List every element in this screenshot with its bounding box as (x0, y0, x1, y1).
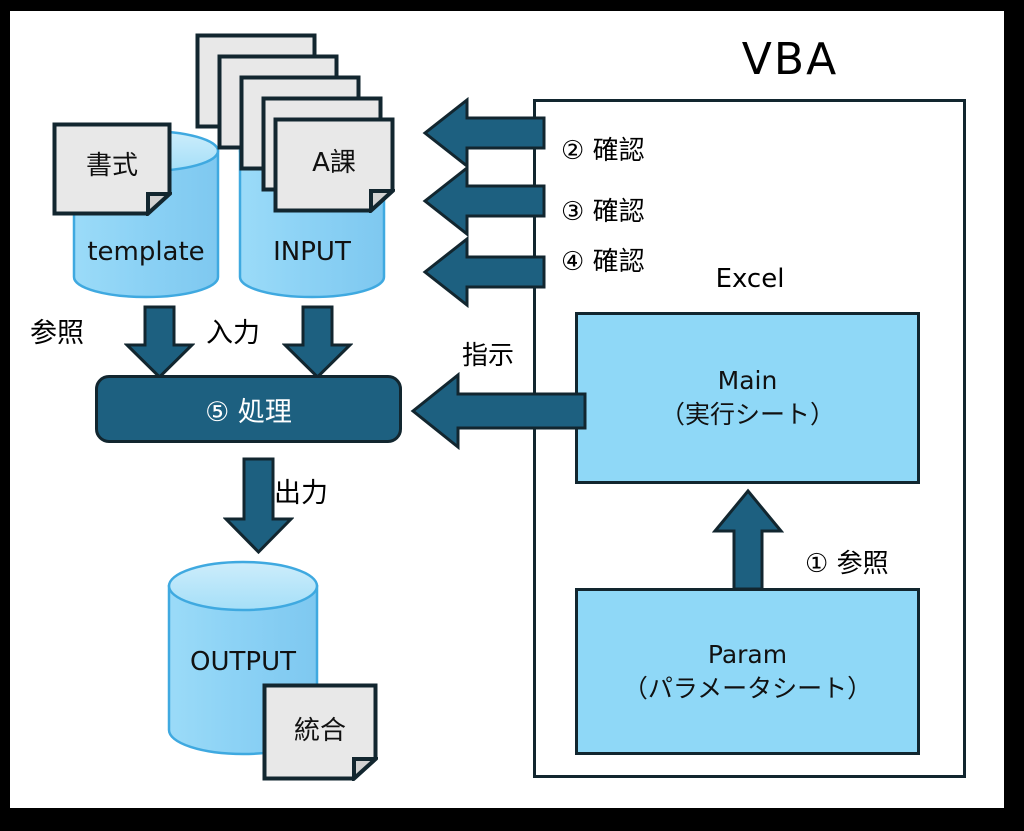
diagram-canvas: VBA Excel Main （実行シート） Param （パラメータシート） … (10, 11, 1004, 808)
reference-up-arrow-icon (712, 488, 784, 592)
confirm-arrow-3-icon (422, 236, 547, 308)
vba-title: VBA (670, 29, 910, 89)
reference-flow-label: 参照 (30, 311, 84, 350)
process-box-label: ⑤ 処理 (205, 390, 292, 429)
template-note-label: 書式 (52, 145, 172, 182)
confirm-arrow-1-label: ② 確認 (561, 130, 645, 167)
confirm-arrow-3-label: ④ 確認 (561, 241, 645, 278)
reference-arrow-label: ① 参照 (805, 543, 889, 580)
process-box[interactable]: ⑤ 処理 (95, 375, 402, 443)
confirm-arrow-2-icon (422, 165, 547, 237)
input-note-card[interactable]: A課 (273, 117, 395, 213)
template-down-arrow-icon (124, 304, 195, 380)
main-sheet-title: Main (660, 364, 835, 398)
input-note-label: A課 (273, 142, 395, 179)
output-cylinder-label: OUTPUT (167, 647, 319, 677)
template-note-card[interactable]: 書式 (52, 122, 172, 216)
main-sheet-subtitle: （実行シート） (660, 398, 835, 432)
output-flow-label: 出力 (274, 471, 328, 510)
input-cylinder-label: INPUT (238, 237, 386, 267)
input-flow-label: 入力 (206, 311, 260, 350)
excel-label: Excel (650, 261, 850, 297)
confirm-arrow-1-icon (422, 97, 547, 169)
output-note-label: 統合 (262, 710, 378, 747)
input-down-arrow-icon (282, 304, 353, 380)
instruct-arrow-label: 指示 (462, 335, 514, 372)
param-sheet-subtitle: （パラメータシート） (623, 672, 872, 706)
main-sheet-box[interactable]: Main （実行シート） (575, 312, 920, 484)
param-sheet-title: Param (623, 638, 872, 672)
output-note-card[interactable]: 統合 (262, 683, 378, 781)
confirm-arrow-2-label: ③ 確認 (561, 191, 645, 228)
param-sheet-box[interactable]: Param （パラメータシート） (575, 588, 920, 755)
template-cylinder-label: template (72, 237, 220, 267)
instruct-left-arrow-icon (410, 372, 588, 450)
